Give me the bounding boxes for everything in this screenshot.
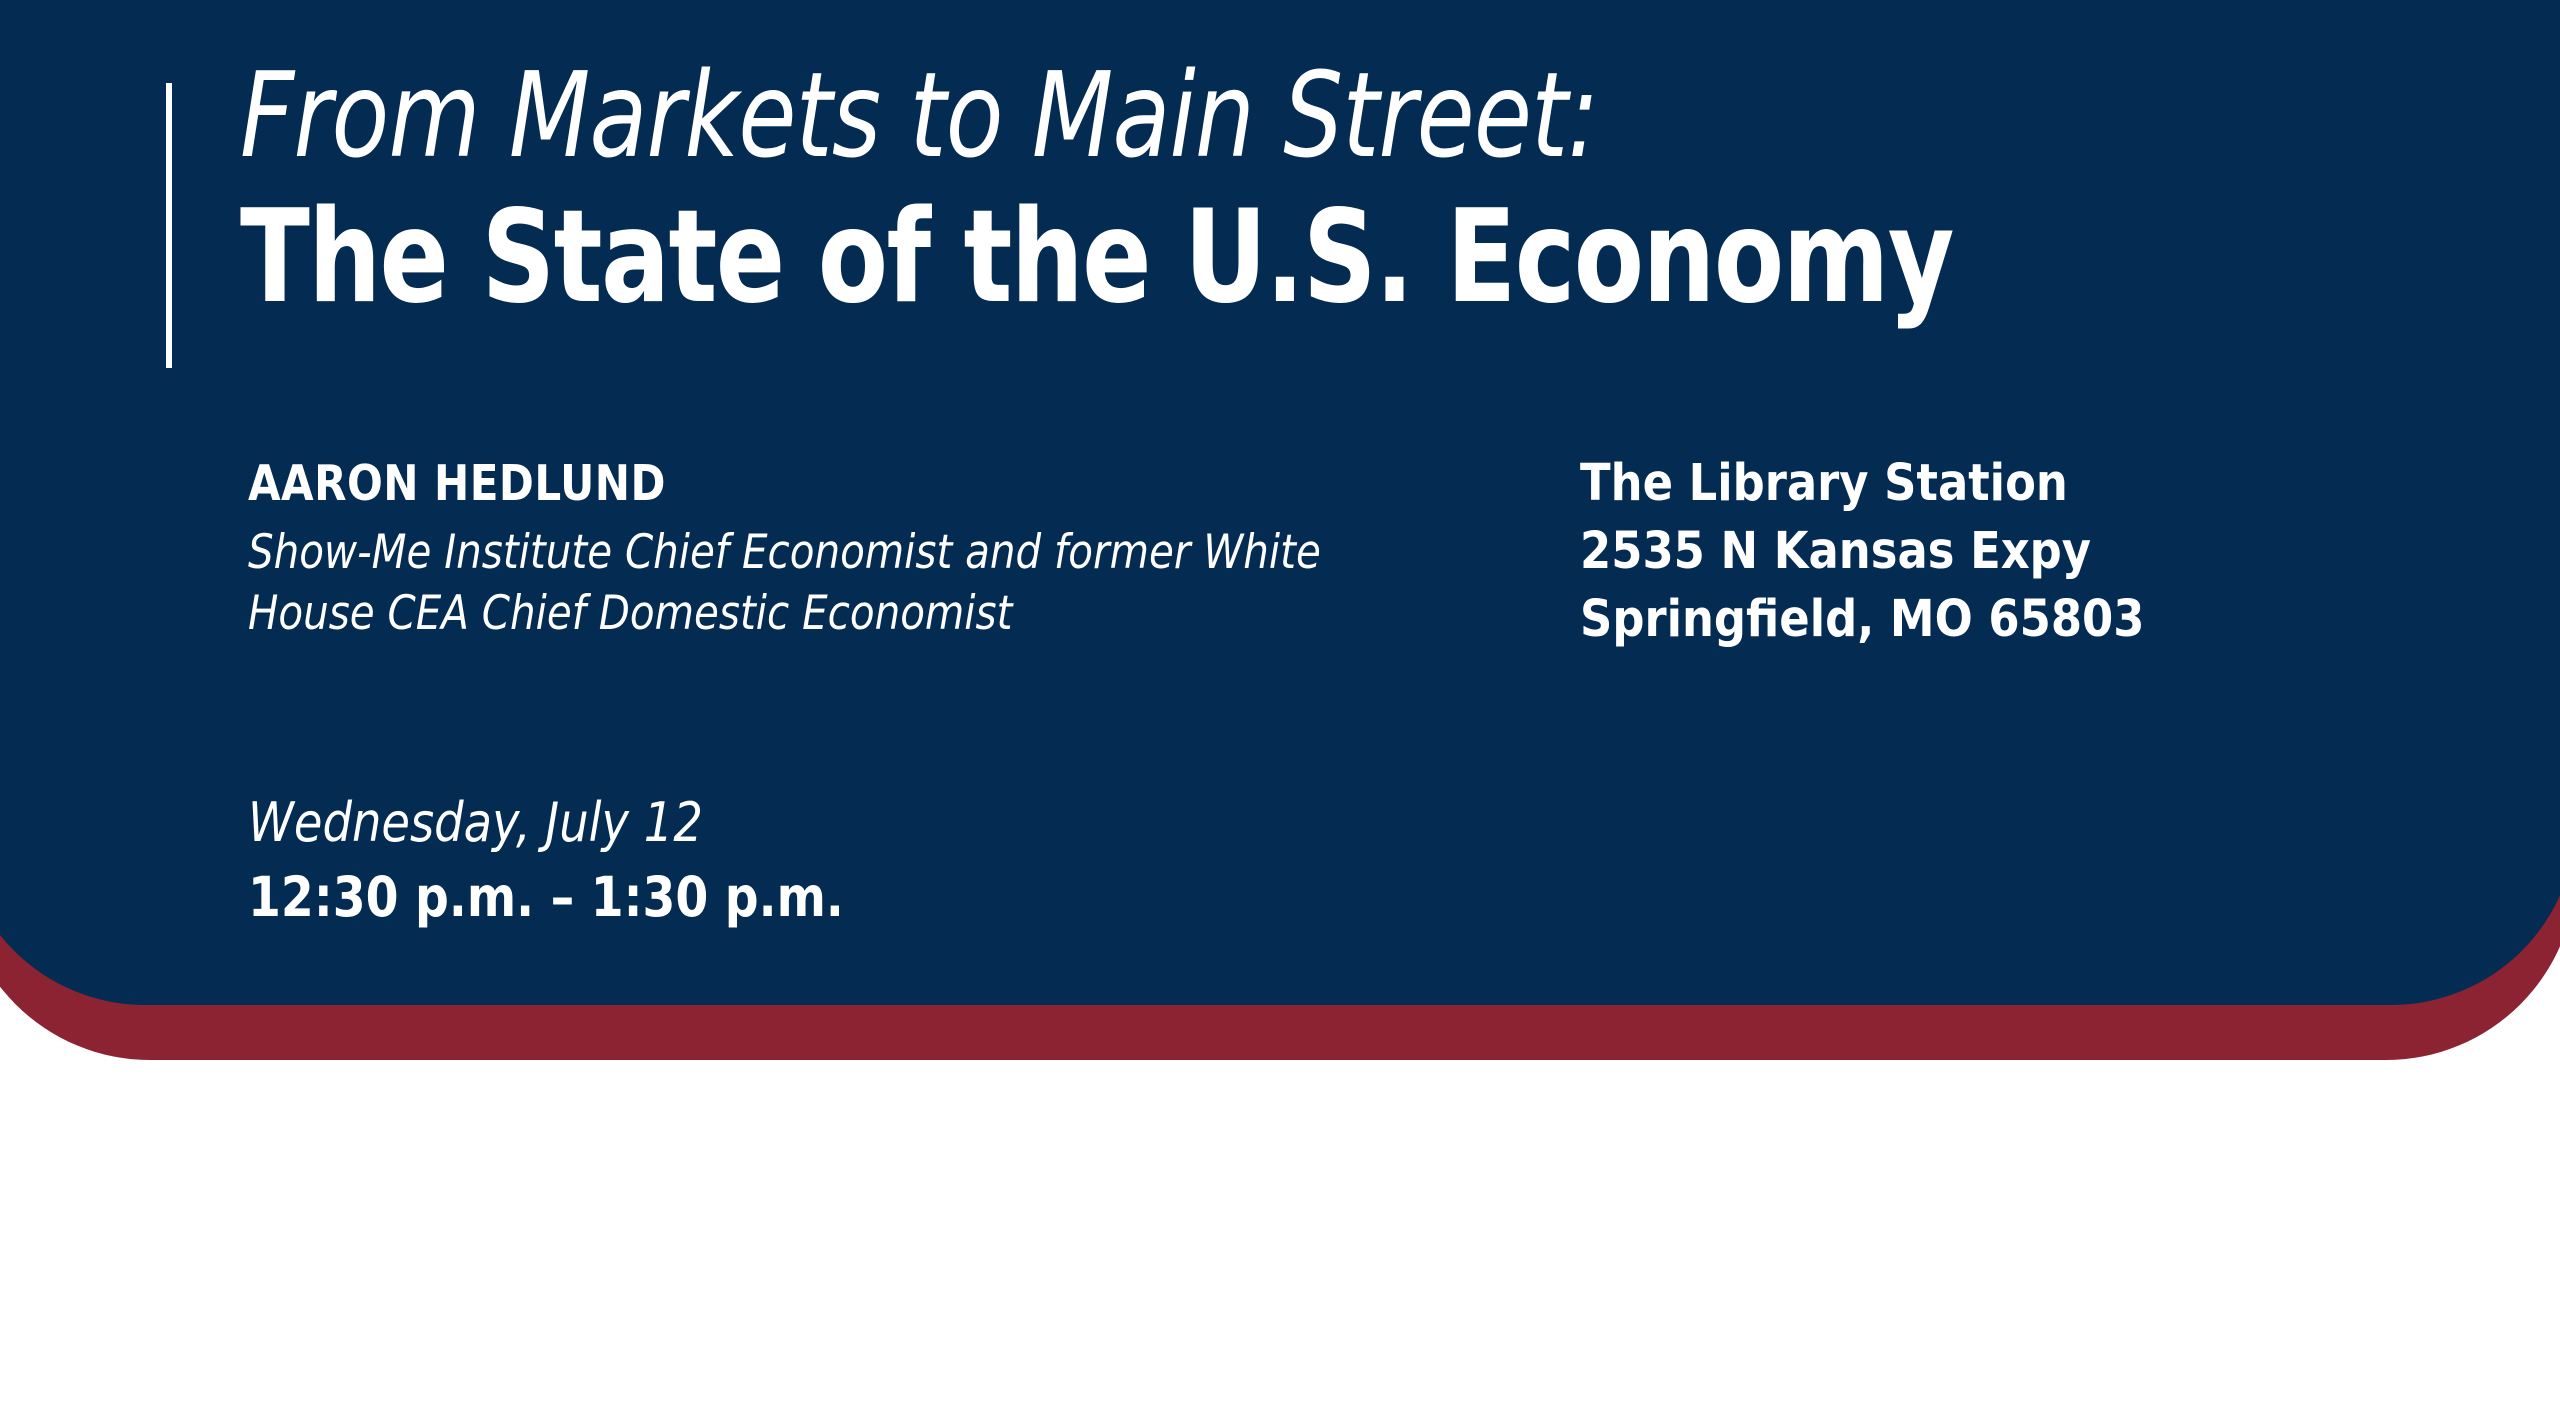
page-title: From Markets to Main Street: The State o…: [240, 55, 2480, 324]
venue-block: The Library Station 2535 N Kansas Expy S…: [1580, 450, 2480, 653]
event-flyer: From Markets to Main Street: The State o…: [0, 0, 2560, 1407]
title-line-2: The State of the U.S. Economy: [240, 191, 2032, 324]
title-line-1: From Markets to Main Street:: [240, 55, 2032, 175]
event-date: Wednesday, July 12: [248, 790, 1194, 856]
hero-panel: From Markets to Main Street: The State o…: [0, 0, 2560, 1060]
speaker-bio: Show-Me Institute Chief Economist and fo…: [248, 522, 1323, 644]
speaker-block: AARON HEDLUND Show-Me Institute Chief Ec…: [248, 455, 1328, 644]
schedule-block: Wednesday, July 12 12:30 p.m. – 1:30 p.m…: [248, 790, 1348, 931]
title-vertical-rule: [166, 83, 172, 368]
venue-street: 2535 N Kansas Expy: [1580, 518, 2372, 586]
footer-bar: FREE EVENT Presented by:: [0, 1060, 2560, 1407]
speaker-name: AARON HEDLUND: [248, 455, 1177, 512]
venue-name: The Library Station: [1580, 450, 2372, 518]
event-time: 12:30 p.m. – 1:30 p.m.: [248, 864, 1194, 931]
venue-city-state-zip: Springfield, MO 65803: [1580, 586, 2372, 654]
